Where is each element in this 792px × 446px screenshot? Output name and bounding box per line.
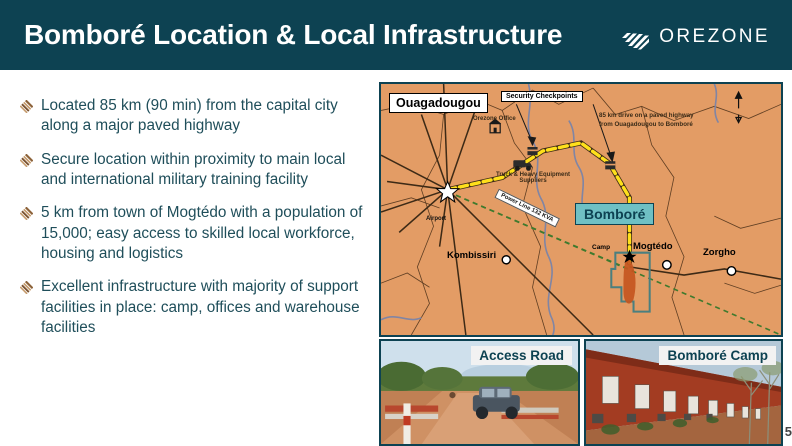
list-item: Located 85 km (90 min) from the capital … (20, 96, 372, 137)
map-label-airport: Airport (426, 216, 446, 222)
map-label-kombissiri: Kombissiri (447, 250, 496, 261)
list-item: 5 km from town of Mogtédo with a populat… (20, 203, 372, 264)
list-item-text: Secure location within proximity to main… (41, 150, 372, 191)
slide-header: Bomboré Location & Local Infrastructure … (0, 0, 792, 70)
orezone-logo: OREZONE (620, 24, 770, 50)
list-item-text: Located 85 km (90 min) from the capital … (41, 96, 372, 137)
list-item-text: 5 km from town of Mogtédo with a populat… (41, 203, 372, 264)
diamond-bullet-icon (20, 100, 33, 113)
bullet-list: Located 85 km (90 min) from the capital … (20, 96, 372, 351)
photo-bombore-camp: Bomboré Camp (584, 339, 783, 446)
photo-access-road: Access Road (379, 339, 580, 446)
map-note-highway-drive: 85 km drive on a paved highway from Ouag… (599, 111, 694, 130)
map-label-camp: Camp (592, 244, 610, 251)
list-item: Secure location within proximity to main… (20, 150, 372, 191)
page-title: Bomboré Location & Local Infrastructure (24, 19, 562, 51)
map-label-security-checkpoints: Security Checkpoints (501, 91, 583, 102)
photo-caption-bombore-camp: Bomboré Camp (659, 346, 776, 365)
photo-caption-access-road: Access Road (471, 346, 572, 365)
list-item-text: Excellent infrastructure with majority o… (41, 277, 372, 338)
map-label-bombore: Bomboré (575, 203, 654, 225)
diamond-bullet-icon (20, 154, 33, 167)
diamond-bullet-icon (20, 281, 33, 294)
diamond-bullet-icon (20, 207, 33, 220)
map-label-ouagadougou: Ouagadougou (389, 93, 488, 113)
map-note-line-2: from Ouagadougou to Bomboré (599, 120, 694, 129)
logo-wordmark: OREZONE (659, 26, 770, 48)
map-label-zorgho: Zorgho (703, 247, 736, 258)
map-label-truck-suppliers: Truck & Heavy Equipment Suppliers (485, 172, 581, 184)
list-item: Excellent infrastructure with majority o… (20, 277, 372, 338)
map-note-line-1: 85 km drive on a paved highway (599, 111, 694, 120)
map-label-orezone-office: Orezone Office (473, 116, 516, 122)
map-label-mogtedo: Mogtédo (633, 241, 673, 252)
orezone-slash-mark-icon (620, 24, 650, 50)
location-map: Ouagadougou Security Checkpoints Bomboré… (379, 82, 783, 337)
page-number: 5 (785, 424, 792, 439)
